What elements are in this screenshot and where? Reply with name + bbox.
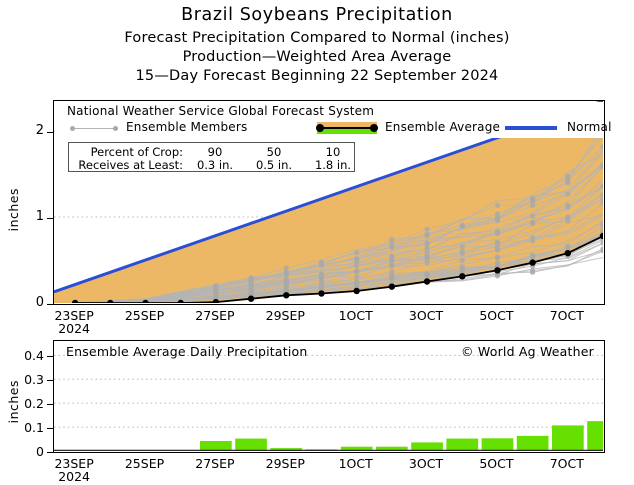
amount-value-1: 0.3 in. xyxy=(185,158,245,172)
bottom-chart-title: Ensemble Average Daily Precipitation xyxy=(66,344,308,359)
chart-page: Brazil Soybeans Precipitation Forecast P… xyxy=(0,0,634,485)
ensemble-average-line-icon xyxy=(317,122,377,134)
cumulative-precipitation-chart: National Weather Service Global Forecast… xyxy=(53,100,605,305)
amount-value-2: 0.5 in. xyxy=(244,158,304,172)
page-subtitle-3: 15—Day Forecast Beginning 22 September 2… xyxy=(0,68,634,84)
page-subtitle-1: Forecast Precipitation Compared to Norma… xyxy=(0,30,634,46)
ensemble-members-line-icon xyxy=(70,126,118,130)
top-chart-ytick-mark xyxy=(47,304,53,306)
copyright-label: © World Ag Weather xyxy=(461,344,594,359)
bottom-chart-xtick-3OCT: 3OCT xyxy=(396,456,456,471)
bottom-chart-ytick-mark xyxy=(47,380,53,382)
page-subtitle-2: Production—Weighted Area Average xyxy=(0,49,634,65)
title-block: Brazil Soybeans Precipitation Forecast P… xyxy=(0,0,634,84)
bottom-chart-ytick-mark xyxy=(47,404,53,406)
percent-value-50: 50 xyxy=(244,145,304,159)
percent-value-10: 10 xyxy=(303,145,363,159)
legend-label-ensemble-average: Ensemble Average xyxy=(385,120,500,134)
receives-at-least-label: Receives at Least: xyxy=(65,158,183,172)
bottom-chart-ytick-mark xyxy=(47,452,53,454)
amount-value-3: 1.8 in. xyxy=(303,158,363,172)
top-chart-ytick-1: 1 xyxy=(0,209,44,224)
top-chart-ytick-0: 0 xyxy=(0,295,44,310)
normal-line-icon xyxy=(505,126,557,130)
top-chart-ytick-mark xyxy=(47,132,53,134)
top-chart-ytick-mark xyxy=(47,218,53,220)
bottom-chart-ytick-mark xyxy=(47,356,53,358)
legend-label-normal: Normal xyxy=(567,120,612,134)
bottom-chart-ytick-mark xyxy=(47,428,53,430)
bottom-chart-x-year: 2024 xyxy=(44,469,104,484)
top-chart-xtick-7OCT: 7OCT xyxy=(537,308,597,323)
top-chart-xtick-3OCT: 3OCT xyxy=(396,308,456,323)
bottom-chart-ytick-0.2: 0.2 xyxy=(0,396,44,411)
top-chart-xtick-29SEP: 29SEP xyxy=(255,308,315,323)
top-chart-xtick-1OCT: 1OCT xyxy=(326,308,386,323)
bottom-chart-xtick-29SEP: 29SEP xyxy=(255,456,315,471)
percent-of-crop-label: Percent of Crop: xyxy=(65,145,183,159)
top-chart-xtick-27SEP: 27SEP xyxy=(185,308,245,323)
legend: National Weather Service Global Forecast… xyxy=(55,102,604,138)
percent-value-90: 90 xyxy=(185,145,245,159)
legend-label-ensemble-members: Ensemble Members xyxy=(126,120,247,134)
bottom-chart-xtick-1OCT: 1OCT xyxy=(326,456,386,471)
top-chart-xtick-5OCT: 5OCT xyxy=(466,308,526,323)
bottom-chart-ytick-0: 0 xyxy=(0,444,44,459)
bottom-chart-ytick-0.3: 0.3 xyxy=(0,372,44,387)
bottom-chart-xtick-5OCT: 5OCT xyxy=(466,456,526,471)
bottom-chart-ytick-0.1: 0.1 xyxy=(0,420,44,435)
top-chart-ytick-2: 2 xyxy=(0,123,44,138)
percent-of-crop-box: Percent of Crop: 90 50 10 Receives at Le… xyxy=(68,142,355,172)
top-chart-xtick-25SEP: 25SEP xyxy=(115,308,175,323)
top-chart-x-year: 2024 xyxy=(44,321,104,336)
legend-source-label: National Weather Service Global Forecast… xyxy=(67,104,374,118)
bottom-chart-xtick-7OCT: 7OCT xyxy=(537,456,597,471)
bottom-chart-xtick-25SEP: 25SEP xyxy=(115,456,175,471)
page-title: Brazil Soybeans Precipitation xyxy=(0,5,634,25)
bottom-chart-xtick-27SEP: 27SEP xyxy=(185,456,245,471)
daily-precipitation-chart: Ensemble Average Daily Precipitation © W… xyxy=(53,340,605,453)
bottom-chart-ytick-0.4: 0.4 xyxy=(0,348,44,363)
